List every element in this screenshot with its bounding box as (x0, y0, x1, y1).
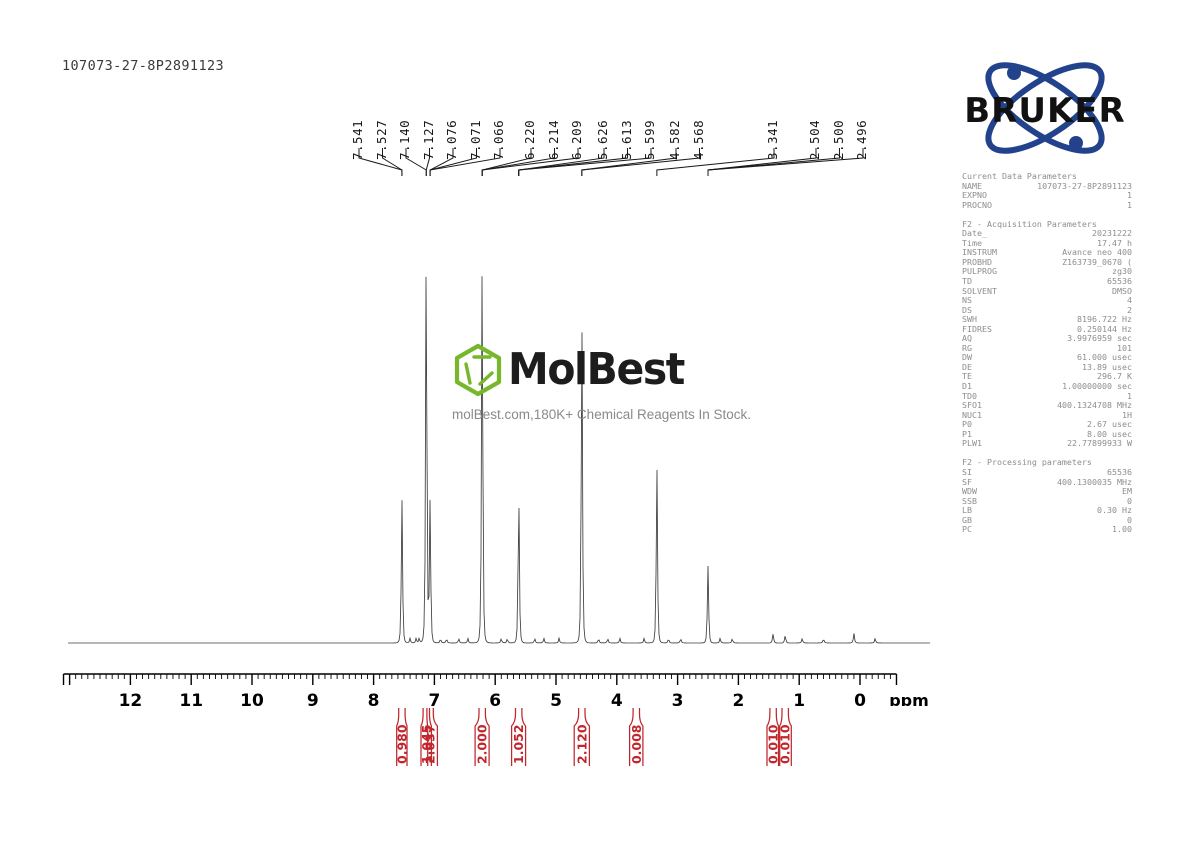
integration-bracket: 0.010 (778, 708, 793, 766)
parameter-row: SFO1400.1324708 MHz (962, 401, 1132, 411)
parameter-row: AQ3.9976959 sec (962, 334, 1132, 344)
integration-bracket: 0.008 (629, 708, 644, 766)
bruker-wordmark: BRUKER (964, 91, 1125, 131)
peak-connector-lines (359, 148, 863, 176)
parameter-row: PC1.00 (962, 525, 1132, 535)
integration-value: 2.000 (475, 724, 490, 764)
parameter-key: PROCNO (962, 201, 992, 211)
parameter-row: GB0 (962, 516, 1132, 526)
parameter-block: Current Data ParametersNAME107073-27-8P2… (962, 172, 1132, 535)
parameter-row: PLW122.77899933 W (962, 439, 1132, 449)
integration-value: 0.980 (394, 724, 409, 764)
axis-tick-label: 6 (489, 691, 501, 706)
parameter-key: PLW1 (962, 439, 982, 449)
axis-unit-label: ppm (889, 691, 929, 706)
axis-tick-label: 5 (550, 691, 562, 706)
parameter-value: 1 (1127, 201, 1132, 211)
bruker-logo: BRUKER (957, 56, 1133, 160)
spectrum-trace (68, 276, 930, 643)
integration-value: 0.008 (629, 724, 644, 764)
integration-bracket: 1.052 (511, 708, 526, 766)
parameter-row: NAME107073-27-8P2891123 (962, 182, 1132, 192)
nmr-spectrum-page: 107073-27-8P2891123 7.5417.5277.1407.127… (0, 0, 1190, 842)
axis-tick-label: 1 (793, 691, 805, 706)
parameter-row: WDWEM (962, 487, 1132, 497)
parameter-row: SOLVENTDMSO (962, 287, 1132, 297)
axis-tick-label: 3 (672, 691, 684, 706)
axis-tick-label: 2 (732, 691, 744, 706)
integration-value: 2.120 (574, 724, 589, 764)
parameter-row: SF400.1300035 MHz (962, 478, 1132, 488)
parameter-value: 1.00 (1112, 525, 1132, 535)
axis-tick-label: 0 (854, 691, 866, 706)
integration-value: 0.010 (778, 724, 793, 764)
axis-tick-label: 11 (179, 691, 203, 706)
axis-tick-label: 8 (368, 691, 380, 706)
axis-tick-label: 12 (119, 691, 143, 706)
parameter-row: NS4 (962, 296, 1132, 306)
parameter-value: 1.00000000 sec (1062, 382, 1132, 392)
parameter-value: 400.1324708 MHz (1057, 401, 1132, 411)
parameter-value: 400.1300035 MHz (1057, 478, 1132, 488)
integration-bracket: 2.120 (574, 708, 589, 766)
integration-group: 0.9801.0452.0372.0001.0522.1200.0080.010… (0, 706, 1190, 786)
axis-tick-label: 10 (240, 691, 264, 706)
parameter-row: D11.00000000 sec (962, 382, 1132, 392)
parameter-key: PC (962, 525, 972, 535)
axis-tick-label: 7 (428, 691, 440, 706)
integration-value: 2.037 (423, 724, 438, 764)
integration-bracket: 2.000 (475, 708, 490, 766)
parameter-row: LB0.30 Hz (962, 506, 1132, 516)
ppm-axis: 1211109876543210ppm (0, 660, 1190, 706)
integration-bracket: 0.980 (394, 708, 409, 766)
parameter-value: 22.77899933 W (1067, 439, 1132, 449)
integration-value: 1.052 (511, 724, 526, 764)
parameter-value: 107073-27-8P2891123 (1037, 182, 1132, 192)
axis-tick-label: 4 (611, 691, 623, 706)
axis-tick-label: 9 (307, 691, 319, 706)
parameter-row: PROCNO1 (962, 201, 1132, 211)
